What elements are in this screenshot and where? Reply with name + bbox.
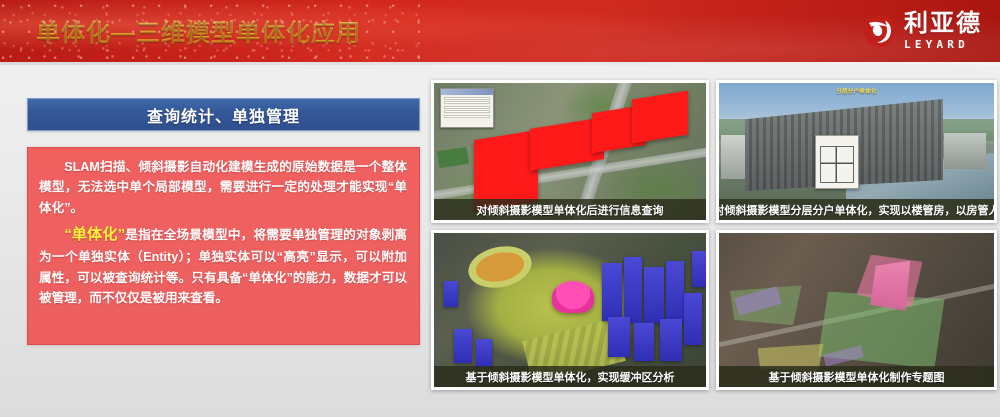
- dialog-field-row: [444, 110, 490, 113]
- highlighted-building-shape: [632, 91, 688, 144]
- buffer-building-shape: [684, 293, 702, 345]
- buffer-analysis-image-3: [434, 233, 706, 387]
- buffer-building-shape: [660, 319, 682, 361]
- buffer-building-shape: [692, 251, 708, 287]
- dialog-field-row: [444, 97, 490, 100]
- page-header: 单体化—三维模型单体化应用 利亚德 LEYARD: [0, 0, 1000, 62]
- gallery-caption-3: 基于倾斜摄影模型单体化，实现缓冲区分析: [434, 366, 706, 387]
- logo-text-cn: 利亚德: [904, 12, 982, 36]
- logo-wordmark: 利亚德 LEYARD: [904, 12, 982, 50]
- buffer-building-shape: [666, 261, 684, 323]
- section-header-bar: 查询统计、单独管理: [27, 98, 420, 131]
- buffer-building-shape: [644, 267, 664, 323]
- floor-plan-popup[interactable]: [815, 135, 859, 189]
- section-header-label: 查询统计、单独管理: [147, 103, 300, 127]
- thematic-pink-building: [870, 261, 910, 311]
- dialog-titlebar: [441, 89, 493, 95]
- dialog-field-row: [444, 106, 490, 109]
- gallery-item-2[interactable]: 分层分户单体化 对倾斜摄影模型分层分户单体化，实现以楼管房，以房管人: [716, 80, 997, 223]
- callout-box: SLAM扫描、倾斜摄影自动化建模生成的原始数据是一个整体模型，无法选中单个局部模…: [27, 147, 420, 345]
- callout-paragraph-1: SLAM扫描、倾斜摄影自动化建模生成的原始数据是一个整体模型，无法选中单个局部模…: [39, 157, 407, 218]
- gallery-item-3[interactable]: 基于倾斜摄影模型单体化，实现缓冲区分析: [431, 230, 709, 390]
- gallery-item-1[interactable]: 对倾斜摄影模型单体化后进行信息查询: [431, 80, 709, 223]
- brand-logo: 利亚德 LEYARD: [863, 12, 982, 50]
- highlighted-landmark-shape: [552, 281, 594, 313]
- gallery-caption-4: 基于倾斜摄影模型单体化制作专题图: [719, 366, 994, 387]
- buffer-building-shape: [624, 257, 642, 323]
- thematic-map-image-4: [719, 233, 994, 387]
- leyard-swoosh-icon: [863, 14, 897, 48]
- page-title: 单体化—三维模型单体化应用: [36, 13, 361, 48]
- sports-field-shape: [437, 147, 469, 168]
- buffer-building-shape: [634, 323, 654, 361]
- building-shape: [944, 133, 986, 169]
- buffer-building-shape: [444, 281, 458, 307]
- gallery-caption-1: 对倾斜摄影模型单体化后进行信息查询: [434, 199, 706, 220]
- buffer-building-shape: [476, 339, 492, 367]
- buffer-building-shape: [608, 317, 630, 357]
- callout-paragraph-2: “单体化”是指在全场景模型中，将需要单独管理的对象剥离为一个单独实体（Entit…: [39, 223, 407, 308]
- stadium-track-shape: [465, 241, 536, 293]
- gallery-caption-2: 对倾斜摄影模型分层分户单体化，实现以楼管房，以房管人: [719, 199, 994, 220]
- dialog-field-row: [444, 101, 490, 104]
- dialog-field-row: [444, 115, 490, 118]
- callout-highlight-term: “单体化”: [64, 226, 125, 243]
- buffer-building-shape: [454, 329, 472, 363]
- logo-text-en: LEYARD: [904, 39, 969, 50]
- gallery-item-4[interactable]: 基于倾斜摄影模型单体化制作专题图: [716, 230, 997, 390]
- image-overlay-label: 分层分户单体化: [719, 87, 994, 95]
- attribute-info-dialog[interactable]: [440, 88, 494, 128]
- header-divider: [0, 62, 1000, 65]
- buffer-building-shape: [602, 263, 622, 321]
